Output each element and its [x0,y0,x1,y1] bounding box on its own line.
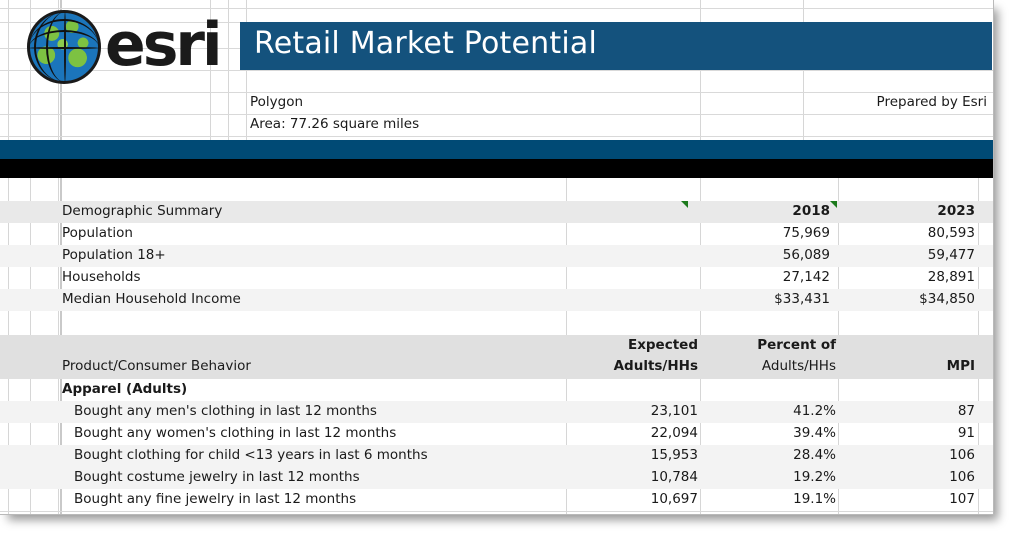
comment-indicator-icon[interactable] [681,201,688,208]
row-label: Bought any fine jewelry in last 12 month… [74,491,356,507]
product-table-header: Product/Consumer Behavior Expected Adult… [0,335,993,379]
report-title-bar: Retail Market Potential [240,22,992,70]
spreadsheet-sheet: esri ® Retail Market Potential Polygon A… [0,0,994,515]
grid-hline [0,114,993,115]
cell-expected: 15,953 [568,447,698,463]
table-row: Households 27,142 28,891 [0,267,993,289]
table-row: Population 18+ 56,089 59,477 [0,245,993,267]
area-label: Area: 77.26 square miles [250,116,419,132]
cell-2023: 28,891 [845,269,975,285]
cell-percent: 41.2% [706,403,836,419]
cell-2023: $34,850 [845,291,975,307]
cell-2018: $33,431 [700,291,830,307]
table-row: Population 75,969 80,593 [0,223,993,245]
cell-2023: 80,593 [845,225,975,241]
cell-expected: 22,094 [568,425,698,441]
row-label: Bought clothing for child <13 years in l… [74,447,428,463]
cell-expected: 10,784 [568,469,698,485]
row-label: Bought any women's clothing in last 12 m… [74,425,396,441]
comment-indicator-icon[interactable] [830,201,837,208]
cell-percent: 19.1% [706,491,836,507]
blue-separator-band [0,140,993,159]
row-label: Households [62,269,140,285]
prepared-by-label: Prepared by Esri [877,94,987,110]
row-label: Median Household Income [62,291,241,307]
cell-expected: 10,697 [568,491,698,507]
section-title: Apparel (Adults) [62,381,187,397]
cell-percent: 19.2% [706,469,836,485]
page-title: Retail Market Potential [254,26,597,61]
demographic-summary-label: Demographic Summary [62,203,222,219]
table-row: Bought any fine jewelry in last 12 month… [0,489,993,511]
cell-mpi: 106 [845,469,975,485]
grid-hline [0,136,993,137]
row-label: Population 18+ [62,247,166,263]
column-header-mpi: MPI [845,358,975,374]
row-label: Population [62,225,133,241]
esri-wordmark: esri [105,14,220,76]
cell-mpi: 107 [845,491,975,507]
column-header-percent-line2: Adults/HHs [706,358,836,374]
cell-expected: 23,101 [568,403,698,419]
table-row: Median Household Income $33,431 $34,850 [0,289,993,311]
column-header-percent-line1: Percent of [706,337,836,353]
cell-mpi: 106 [845,447,975,463]
grid-hline [0,92,993,93]
row-label: Bought any men's clothing in last 12 mon… [74,403,377,419]
cell-2018: 75,969 [700,225,830,241]
table-row: Bought any women's clothing in last 12 m… [0,423,993,445]
column-header-expected-line2: Adults/HHs [568,358,698,374]
grid-hline [0,511,993,512]
cell-mpi: 87 [845,403,975,419]
black-separator-band [0,159,993,178]
demographic-summary-header-row: Demographic Summary 2018 2023 [0,201,993,223]
table-row: Bought costume jewelry in last 12 months… [0,467,993,489]
cell-2023: 59,477 [845,247,975,263]
cell-percent: 28.4% [706,447,836,463]
cell-percent: 39.4% [706,425,836,441]
column-header-expected-line1: Expected [568,337,698,353]
cell-2018: 27,142 [700,269,830,285]
column-header-behavior: Product/Consumer Behavior [62,358,251,374]
globe-icon [27,10,101,84]
table-row: Bought clothing for child <13 years in l… [0,445,993,467]
cell-mpi: 91 [845,425,975,441]
column-header-2018: 2018 [700,203,830,219]
row-label: Bought costume jewelry in last 12 months [74,469,360,485]
cell-2018: 56,089 [700,247,830,263]
table-row: Bought any men's clothing in last 12 mon… [0,401,993,423]
column-header-2023: 2023 [845,203,975,219]
geography-type-label: Polygon [250,94,303,110]
report-screenshot: esri ® Retail Market Potential Polygon A… [0,0,1024,537]
product-section-title-row: Apparel (Adults) [0,379,993,401]
esri-logo: esri ® [27,6,227,86]
